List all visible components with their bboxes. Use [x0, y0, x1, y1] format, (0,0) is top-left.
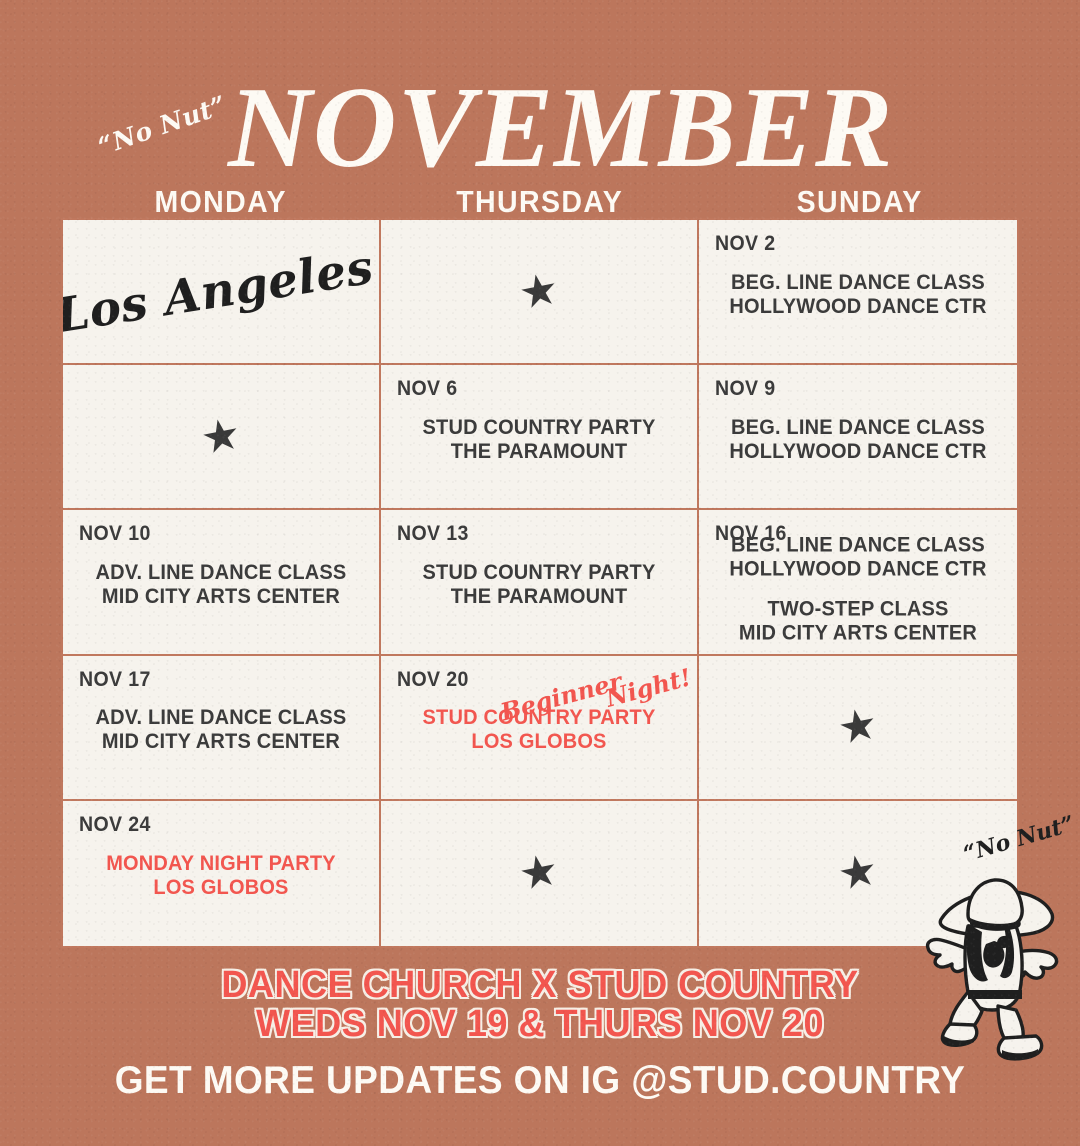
cell-date-label: NOV 9: [715, 377, 987, 401]
event-entry[interactable]: STUD COUNTRY PARTYTHE PARAMOUNT: [398, 560, 681, 608]
calendar-cell[interactable]: NOV 13STUD COUNTRY PARTYTHE PARAMOUNT: [381, 510, 699, 655]
event-title: BEG. LINE DANCE CLASS: [716, 533, 1001, 557]
cell-events: BEG. LINE DANCE CLASSHOLLYWOOD DANCE CTR…: [699, 533, 1017, 645]
calendar-cell[interactable]: ★: [63, 365, 381, 510]
footer-instagram-line: GET MORE UPDATES ON IG @STUD.COUNTRY: [27, 1060, 1053, 1102]
event-title: ADV. LINE DANCE CLASS: [80, 560, 363, 584]
event-entry[interactable]: TWO-STEP CLASSMID CITY ARTS CENTER: [716, 597, 1001, 645]
event-venue: THE PARAMOUNT: [398, 584, 681, 608]
cell-date-label: NOV 24: [79, 813, 349, 837]
event-venue: MID CITY ARTS CENTER: [716, 621, 1001, 645]
event-entry[interactable]: BEG. LINE DANCE CLASSHOLLYWOOD DANCE CTR: [716, 533, 1001, 581]
poster-title-block: “No Nut” NOVEMBER: [0, 36, 1080, 166]
event-title: BEG. LINE DANCE CLASS: [716, 415, 1001, 439]
calendar-cell[interactable]: Los Angeles: [63, 220, 381, 365]
city-script-los-angeles: Los Angeles: [63, 239, 377, 343]
day-header-sunday: SUNDAY: [712, 186, 1006, 222]
event-entry[interactable]: MONDAY NIGHT PARTYLOS GLOBOS: [80, 851, 363, 899]
cowboy-mascot: “No Nut”: [918, 818, 1074, 1068]
star-icon: ★: [197, 411, 244, 462]
calendar-cell[interactable]: NOV 6STUD COUNTRY PARTYTHE PARAMOUNT: [381, 365, 699, 510]
calendar-cell[interactable]: NOV 2BEG. LINE DANCE CLASSHOLLYWOOD DANC…: [699, 220, 1017, 365]
day-header-monday: MONDAY: [74, 186, 368, 222]
cell-date-label: NOV 13: [397, 522, 667, 546]
day-header-thursday: THURSDAY: [393, 186, 687, 222]
calendar-cell[interactable]: NOV 24MONDAY NIGHT PARTYLOS GLOBOS: [63, 801, 381, 946]
event-venue: THE PARAMOUNT: [398, 439, 681, 463]
event-venue: HOLLYWOOD DANCE CTR: [716, 439, 1001, 463]
calendar-cell[interactable]: ★: [381, 801, 699, 946]
calendar-grid: Los Angeles★NOV 2BEG. LINE DANCE CLASSHO…: [61, 218, 1019, 948]
event-venue: MID CITY ARTS CENTER: [80, 584, 363, 608]
cowboy-mascot-icon: [924, 866, 1064, 1062]
cell-events: STUD COUNTRY PARTYLOS GLOBOS: [381, 705, 697, 753]
cell-events: STUD COUNTRY PARTYTHE PARAMOUNT: [381, 415, 697, 463]
cell-date-label: NOV 20: [397, 668, 667, 692]
mascot-label-no-nut: “No Nut”: [961, 811, 1078, 867]
cell-events: BEG. LINE DANCE CLASSHOLLYWOOD DANCE CTR: [699, 270, 1017, 318]
event-venue: HOLLYWOOD DANCE CTR: [716, 557, 1001, 581]
calendar-cell[interactable]: NOV 16BEG. LINE DANCE CLASSHOLLYWOOD DAN…: [699, 510, 1017, 655]
event-venue: HOLLYWOOD DANCE CTR: [716, 294, 1001, 318]
star-icon: ★: [515, 848, 562, 899]
cell-events: STUD COUNTRY PARTYTHE PARAMOUNT: [381, 560, 697, 608]
event-entry[interactable]: STUD COUNTRY PARTYLOS GLOBOS: [398, 705, 681, 753]
event-entry[interactable]: ADV. LINE DANCE CLASSMID CITY ARTS CENTE…: [80, 560, 363, 608]
title-kicker-no-nut: “No Nut”: [95, 90, 231, 161]
calendar-cell[interactable]: NOV 20BeginnerNight!STUD COUNTRY PARTYLO…: [381, 656, 699, 801]
event-entry[interactable]: STUD COUNTRY PARTYTHE PARAMOUNT: [398, 415, 681, 463]
calendar-cell[interactable]: ★: [699, 656, 1017, 801]
cell-events: ADV. LINE DANCE CLASSMID CITY ARTS CENTE…: [63, 705, 379, 753]
footer-collab-line-2: WEDS NOV 19 & THURS NOV 20: [27, 1005, 1053, 1044]
star-icon: ★: [834, 848, 881, 899]
calendar-cell[interactable]: NOV 9BEG. LINE DANCE CLASSHOLLYWOOD DANC…: [699, 365, 1017, 510]
event-venue: LOS GLOBOS: [398, 729, 681, 753]
cell-date-label: NOV 6: [397, 377, 667, 401]
event-title: STUD COUNTRY PARTY: [398, 705, 681, 729]
event-title: STUD COUNTRY PARTY: [398, 560, 681, 584]
event-title: MONDAY NIGHT PARTY: [80, 851, 363, 875]
event-entry[interactable]: BEG. LINE DANCE CLASSHOLLYWOOD DANCE CTR: [716, 270, 1001, 318]
footer-collab-line-1: DANCE CHURCH X STUD COUNTRY: [27, 966, 1053, 1005]
cell-events: MONDAY NIGHT PARTYLOS GLOBOS: [63, 851, 379, 899]
event-title: STUD COUNTRY PARTY: [398, 415, 681, 439]
star-icon: ★: [834, 702, 881, 753]
star-icon: ★: [515, 266, 562, 317]
event-entry[interactable]: BEG. LINE DANCE CLASSHOLLYWOOD DANCE CTR: [716, 415, 1001, 463]
event-entry[interactable]: ADV. LINE DANCE CLASSMID CITY ARTS CENTE…: [80, 705, 363, 753]
cell-events: ADV. LINE DANCE CLASSMID CITY ARTS CENTE…: [63, 560, 379, 608]
calendar-cell[interactable]: NOV 17ADV. LINE DANCE CLASSMID CITY ARTS…: [63, 656, 381, 801]
calendar-cell[interactable]: ★: [381, 220, 699, 365]
day-header-row: MONDAY THURSDAY SUNDAY: [61, 186, 1019, 222]
cell-date-label: NOV 10: [79, 522, 349, 546]
event-venue: MID CITY ARTS CENTER: [80, 729, 363, 753]
cell-date-label: NOV 17: [79, 668, 349, 692]
calendar-cell[interactable]: NOV 10ADV. LINE DANCE CLASSMID CITY ARTS…: [63, 510, 381, 655]
cell-date-label: NOV 2: [715, 232, 987, 256]
cell-events: BEG. LINE DANCE CLASSHOLLYWOOD DANCE CTR: [699, 415, 1017, 463]
event-title: BEG. LINE DANCE CLASS: [716, 270, 1001, 294]
page-title-month: NOVEMBER: [228, 70, 894, 186]
event-title: TWO-STEP CLASS: [716, 597, 1001, 621]
poster-canvas: “No Nut” NOVEMBER MONDAY THURSDAY SUNDAY…: [0, 0, 1080, 1146]
event-venue: LOS GLOBOS: [80, 875, 363, 899]
event-title: ADV. LINE DANCE CLASS: [80, 705, 363, 729]
